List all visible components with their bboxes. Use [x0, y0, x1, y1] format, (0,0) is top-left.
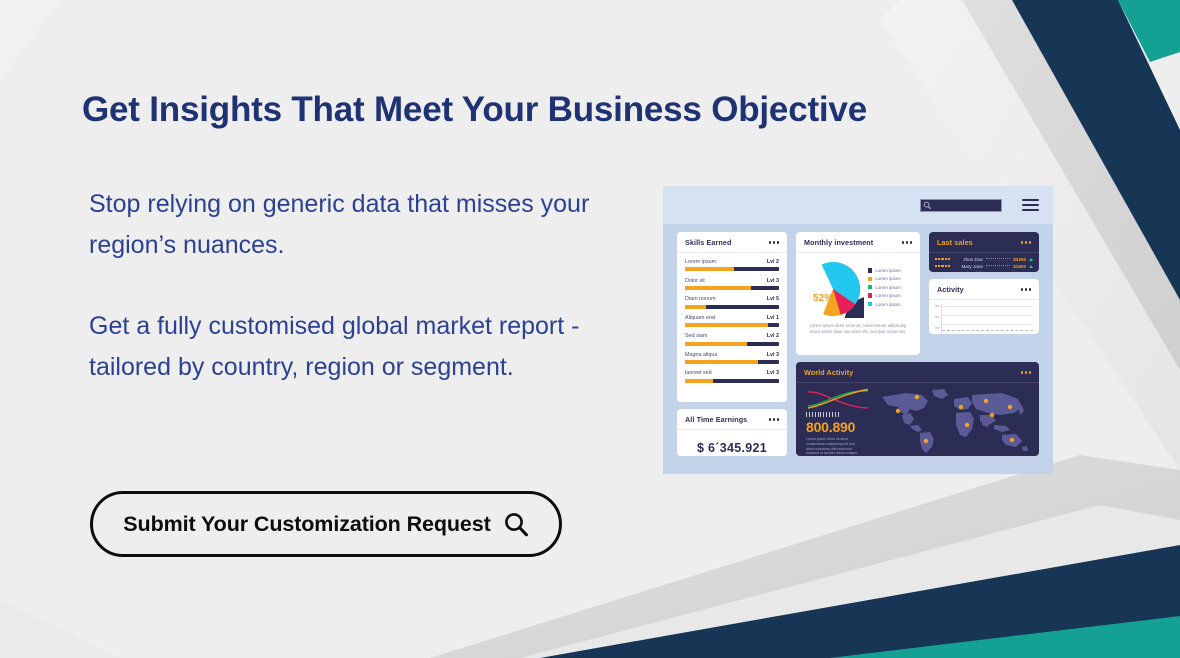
sparkline-chart — [806, 388, 870, 410]
legend-label: Lorem ipsum — [875, 285, 900, 290]
legend-swatch — [868, 277, 872, 281]
skill-progress-track — [685, 342, 779, 346]
world-map-svg — [876, 385, 1034, 455]
skill-progress-fill — [685, 342, 747, 346]
map-marker — [915, 395, 919, 399]
skill-level: Lvl 2 — [767, 333, 779, 339]
skill-progress-fill — [685, 305, 706, 309]
map-landmasses — [882, 389, 1028, 453]
sales-name: Carl Davids — [953, 271, 983, 272]
legend-item: Lorem ipsum — [868, 302, 901, 307]
skill-label: Diam nonum — [685, 296, 716, 302]
trend-up-icon — [1029, 258, 1033, 261]
trend-up-icon — [1029, 265, 1033, 268]
sales-row: Mary Jane $1600 — [935, 264, 1033, 269]
pie-legend: Lorem ipsum Lorem ipsum Lorem ipsum — [868, 260, 901, 318]
legend-swatch — [868, 302, 872, 306]
skill-label: Dolor sit — [685, 278, 705, 284]
legend-swatch — [868, 285, 872, 289]
legend-label: Lorem ipsum — [875, 276, 900, 281]
legend-label: Lorem ipsum — [875, 302, 900, 307]
earnings-value: $ 6´345.921 — [677, 430, 787, 455]
skill-progress-fill — [685, 286, 751, 290]
axis-tick-label: 100 — [935, 327, 939, 330]
skill-label: laoreet sed — [685, 370, 712, 376]
sales-amount: $1600 — [1013, 264, 1026, 269]
submit-customization-request-button[interactable]: Submit Your Customization Request — [90, 491, 562, 557]
last-sales-card: Last sales Jhon Doe $3200 Mary Jane — [929, 232, 1039, 272]
all-time-earnings-card: All Time Earnings $ 6´345.921 — [677, 409, 787, 456]
monthly-investment-card: Monthly investment — [796, 232, 920, 355]
map-marker — [1010, 438, 1014, 442]
map-marker — [1008, 405, 1012, 409]
skill-progress-fill — [685, 323, 768, 327]
card-title: Monthly investment — [804, 238, 873, 247]
card-header: Last sales — [929, 232, 1039, 253]
skill-level: Lvl 5 — [767, 296, 779, 302]
skill-progress-track — [685, 286, 779, 290]
hamburger-bar — [1022, 204, 1039, 207]
map-marker — [990, 413, 994, 417]
world-activity-body: 800.890 Lorem ipsum dolor sit amet conse… — [796, 383, 1039, 455]
sales-row: Carl Davids $4800 — [935, 271, 1033, 272]
skills-earned-card: Skills Earned Lorem ipsum Lvl 2 Dolor si… — [677, 232, 787, 402]
card-header: Activity — [929, 279, 1039, 300]
activity-chart-body: 300 200 100 — [929, 300, 1039, 334]
investment-note: Lorem ipsum dolor sit amet, consectetuer… — [796, 318, 920, 335]
ellipsis-icon[interactable] — [1021, 288, 1031, 290]
map-marker — [965, 423, 969, 427]
map-marker — [984, 399, 988, 403]
world-activity-stats: 800.890 Lorem ipsum dolor sit amet conse… — [806, 388, 870, 456]
axis-tick-label: 300 — [935, 305, 939, 308]
skill-progress-track — [685, 267, 779, 271]
dashboard-illustration: Skills Earned Lorem ipsum Lvl 2 Dolor si… — [663, 186, 1053, 474]
map-marker — [924, 439, 928, 443]
ellipsis-icon[interactable] — [902, 241, 912, 243]
body-paragraph-1: Stop relying on generic data that misses… — [89, 184, 649, 266]
card-title: Last sales — [937, 238, 973, 247]
body-paragraph-2: Get a fully customised global market rep… — [89, 306, 649, 388]
legend-swatch — [868, 268, 872, 272]
hamburger-icon[interactable] — [1022, 199, 1039, 212]
card-title: All Time Earnings — [685, 415, 747, 424]
sales-amount: $3200 — [1013, 257, 1026, 262]
axis-baseline — [942, 330, 1033, 331]
skill-row: Magna aliqua Lvl 3 — [685, 352, 779, 364]
legend-label: Lorem ipsum — [875, 268, 900, 273]
skill-label: Sed siam — [685, 333, 707, 339]
skill-level: Lvl 3 — [767, 278, 779, 284]
sales-amount: $4800 — [1013, 271, 1026, 272]
card-header: World Activity — [796, 362, 1039, 383]
skill-progress-fill — [685, 379, 713, 383]
activity-bars — [943, 307, 1032, 331]
skill-row: Dolor sit Lvl 3 — [685, 278, 779, 290]
skill-progress-track — [685, 323, 779, 327]
card-title: Activity — [937, 285, 964, 294]
activity-plot-area — [941, 304, 1033, 334]
legend-item: Lorem ipsum — [868, 268, 901, 273]
dashboard-topbar — [663, 186, 1053, 224]
sales-name: Jhon Doe — [953, 257, 983, 262]
search-icon — [503, 511, 529, 537]
map-marker — [959, 405, 963, 409]
investment-body: 52% Lorem ipsum Lorem ipsum — [796, 253, 920, 318]
skill-row: Diam nonum Lvl 5 — [685, 296, 779, 308]
pie-chart-svg — [802, 260, 864, 318]
card-header: Monthly investment — [796, 232, 920, 253]
skill-progress-track — [685, 305, 779, 309]
legend-label: Lorem ipsum — [875, 293, 900, 298]
rating-stars-icon — [935, 265, 950, 267]
pie-center-label: 52% — [813, 293, 833, 304]
world-activity-card: World Activity 800.890 L — [796, 362, 1039, 456]
ellipsis-icon[interactable] — [1021, 241, 1031, 243]
pie-chart: 52% — [802, 260, 864, 318]
legend-item: Lorem ipsum — [868, 293, 901, 298]
page-title: Get Insights That Meet Your Business Obj… — [82, 90, 982, 130]
activity-bar-chart: 300 200 100 — [935, 304, 1033, 334]
legend-swatch — [868, 293, 872, 297]
sales-row: Jhon Doe $3200 — [935, 257, 1033, 262]
card-header: Skills Earned — [677, 232, 787, 253]
skill-row: laoreet sed Lvl 3 — [685, 370, 779, 382]
skill-progress-track — [685, 360, 779, 364]
card-header: All Time Earnings — [677, 409, 787, 430]
tick-marks — [806, 412, 870, 417]
skill-label: Magna aliqua — [685, 352, 717, 358]
activity-card: Activity 300 200 100 — [929, 279, 1039, 334]
skill-progress-fill — [685, 267, 734, 271]
body-copy: Stop relying on generic data that misses… — [89, 184, 649, 388]
sales-separator — [986, 265, 1010, 266]
skill-row: Aliquam erat Lvl 1 — [685, 315, 779, 327]
hamburger-bar — [1022, 209, 1039, 212]
ellipsis-icon[interactable] — [1021, 371, 1031, 373]
hamburger-bar — [1022, 199, 1039, 202]
ellipsis-icon[interactable] — [769, 241, 779, 243]
card-title: World Activity — [804, 368, 853, 377]
rating-stars-icon — [935, 258, 950, 260]
sales-separator — [986, 258, 1010, 259]
skill-level: Lvl 2 — [767, 259, 779, 265]
ellipsis-icon[interactable] — [769, 418, 779, 420]
world-map — [876, 385, 1034, 455]
search-icon — [923, 201, 932, 210]
search-input[interactable] — [920, 199, 1002, 212]
legend-item: Lorem ipsum — [868, 276, 901, 281]
skill-level: Lvl 1 — [767, 315, 779, 321]
world-activity-note: Lorem ipsum dolor sit amet consectetuer … — [806, 437, 862, 456]
skill-label: Aliquam erat — [685, 315, 715, 321]
skill-label: Lorem ipsum — [685, 259, 716, 265]
skill-progress-track — [685, 379, 779, 383]
axis-tick-label: 200 — [935, 316, 939, 319]
world-activity-value: 800.890 — [806, 419, 870, 435]
skill-row: Lorem ipsum Lvl 2 — [685, 259, 779, 271]
map-marker — [896, 409, 900, 413]
sales-name: Mary Jane — [953, 264, 983, 269]
skills-list: Lorem ipsum Lvl 2 Dolor sit Lvl 3 — [677, 253, 787, 395]
sales-list: Jhon Doe $3200 Mary Jane $1600 — [929, 253, 1039, 272]
skill-row: Sed siam Lvl 2 — [685, 333, 779, 345]
skill-progress-fill — [685, 360, 758, 364]
skill-level: Lvl 3 — [767, 370, 779, 376]
legend-item: Lorem ipsum — [868, 285, 901, 290]
card-title: Skills Earned — [685, 238, 731, 247]
cta-label: Submit Your Customization Request — [123, 512, 490, 537]
skill-level: Lvl 3 — [767, 352, 779, 358]
